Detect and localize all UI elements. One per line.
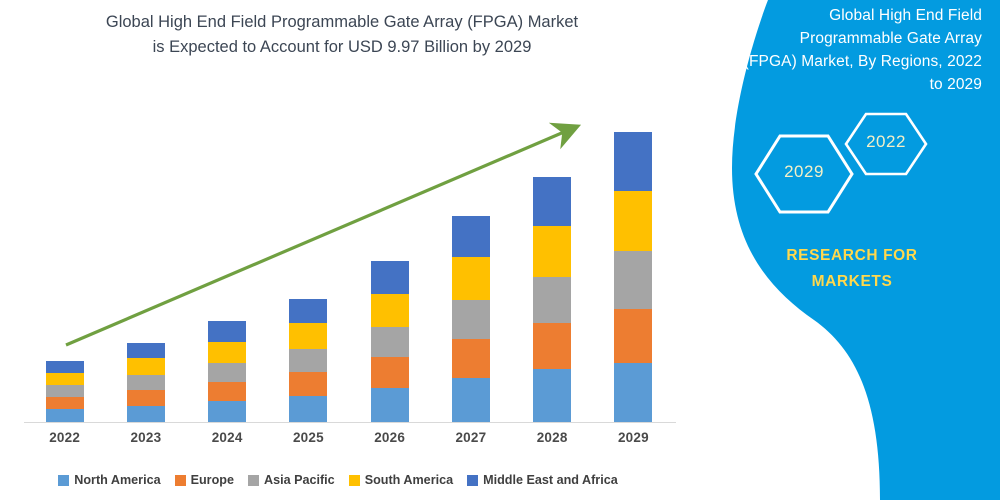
bar-segment	[127, 358, 165, 375]
bar-column-2026	[349, 261, 430, 422]
bar-segment	[533, 226, 571, 277]
bar-segment	[371, 327, 409, 357]
bar-segment	[533, 177, 571, 226]
x-axis-line	[24, 422, 676, 423]
legend-label: North America	[74, 473, 160, 487]
x-axis-label-2029: 2029	[593, 430, 674, 445]
bar-segment	[289, 349, 327, 372]
bar-segment	[46, 397, 84, 409]
chart-title-line-1: Global High End Field Programmable Gate …	[62, 10, 622, 35]
legend-swatch-icon	[248, 475, 259, 486]
bar-column-2027	[430, 216, 511, 422]
legend-label: South America	[365, 473, 453, 487]
x-axis-label-2024: 2024	[187, 430, 268, 445]
bar-segment	[127, 375, 165, 390]
x-axis-label-2028: 2028	[512, 430, 593, 445]
hexagon-group: 2029 2022	[718, 110, 988, 220]
x-axis-label-2026: 2026	[349, 430, 430, 445]
legend-label: Middle East and Africa	[483, 473, 618, 487]
stacked-bar-series	[24, 118, 674, 422]
bar-segment	[127, 343, 165, 358]
brand-line-2: MARKETS	[722, 269, 982, 295]
bar-column-2023	[105, 343, 186, 422]
panel-title-line-3: (FPGA) Market, By Regions, 2022	[722, 50, 982, 73]
bar-column-2029	[593, 132, 674, 422]
chart-title: Global High End Field Programmable Gate …	[62, 10, 622, 60]
bar-segment	[46, 373, 84, 386]
x-axis-label-2025: 2025	[268, 430, 349, 445]
bar-segment	[46, 361, 84, 373]
x-axis-label-2022: 2022	[24, 430, 105, 445]
bar-column-2022	[24, 361, 105, 422]
hexagon-2022-label: 2022	[846, 132, 926, 152]
stacked-bar	[289, 299, 327, 422]
bar-segment	[614, 132, 652, 191]
brand-line-1: RESEARCH FOR	[722, 243, 982, 269]
chart-legend: North AmericaEuropeAsia PacificSouth Ame…	[0, 468, 676, 492]
legend-item-2[interactable]: Asia Pacific	[248, 473, 335, 487]
legend-item-0[interactable]: North America	[58, 473, 160, 487]
bar-segment	[452, 216, 490, 257]
legend-swatch-icon	[349, 475, 360, 486]
bar-segment	[127, 406, 165, 422]
bar-segment	[533, 369, 571, 422]
bar-segment	[208, 401, 246, 422]
stacked-bar	[533, 177, 571, 422]
legend-label: Europe	[191, 473, 234, 487]
bar-column-2025	[268, 299, 349, 422]
bar-segment	[208, 321, 246, 342]
legend-swatch-icon	[58, 475, 69, 486]
panel-title: Global High End Field Programmable Gate …	[722, 4, 982, 96]
bar-segment	[614, 363, 652, 422]
panel-title-line-4: to 2029	[722, 73, 982, 96]
bar-segment	[614, 309, 652, 363]
x-axis-label-2027: 2027	[430, 430, 511, 445]
legend-swatch-icon	[467, 475, 478, 486]
bar-segment	[533, 323, 571, 369]
bar-segment	[371, 388, 409, 422]
bar-segment	[452, 257, 490, 300]
bar-segment	[452, 300, 490, 339]
bar-column-2024	[187, 321, 268, 422]
bar-column-2028	[512, 177, 593, 422]
bar-segment	[208, 363, 246, 382]
stacked-bar	[614, 132, 652, 422]
panel-title-line-1: Global High End Field	[722, 4, 982, 27]
stacked-bar	[46, 361, 84, 422]
brand-panel: Global High End Field Programmable Gate …	[700, 0, 1000, 500]
bar-segment	[289, 396, 327, 422]
legend-item-1[interactable]: Europe	[175, 473, 234, 487]
hexagon-2029-label: 2029	[756, 162, 852, 182]
legend-label: Asia Pacific	[264, 473, 335, 487]
bar-segment	[371, 261, 409, 294]
stacked-bar	[127, 343, 165, 422]
bar-segment	[208, 382, 246, 402]
chart-title-line-2: is Expected to Account for USD 9.97 Bill…	[62, 35, 622, 60]
brand-name: RESEARCH FOR MARKETS	[722, 243, 982, 295]
infographic-root: Global High End Field Programmable Gate …	[0, 0, 1000, 500]
bar-segment	[452, 378, 490, 422]
bar-segment	[127, 390, 165, 406]
bar-segment	[371, 294, 409, 328]
stacked-bar	[371, 261, 409, 422]
legend-item-4[interactable]: Middle East and Africa	[467, 473, 618, 487]
bar-segment	[46, 409, 84, 422]
bar-segment	[452, 339, 490, 378]
stacked-bar	[208, 321, 246, 422]
x-axis-labels: 20222023202420252026202720282029	[24, 430, 674, 454]
bar-segment	[46, 385, 84, 397]
bar-segment	[371, 357, 409, 388]
bar-segment	[289, 323, 327, 349]
legend-item-3[interactable]: South America	[349, 473, 453, 487]
stacked-bar	[452, 216, 490, 422]
panel-title-line-2: Programmable Gate Array	[722, 27, 982, 50]
bar-segment	[533, 277, 571, 324]
bar-segment	[614, 251, 652, 309]
bar-segment	[289, 372, 327, 396]
legend-swatch-icon	[175, 475, 186, 486]
bar-segment	[614, 191, 652, 251]
x-axis-label-2023: 2023	[105, 430, 186, 445]
bar-segment	[208, 342, 246, 363]
bar-segment	[289, 299, 327, 323]
